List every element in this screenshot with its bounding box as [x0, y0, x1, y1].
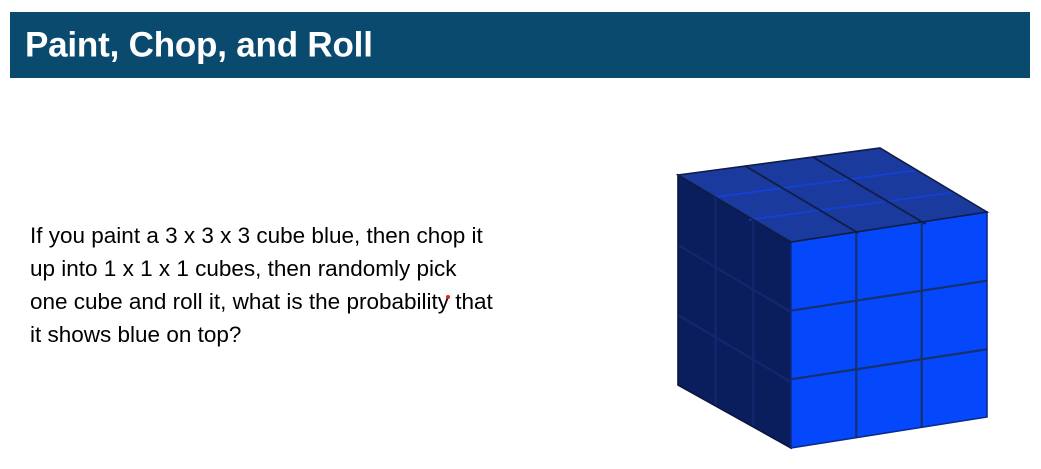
title-banner: Paint, Chop, and Roll	[10, 12, 1030, 78]
question-paragraph: If you paint a 3 x 3 x 3 cube blue, then…	[30, 219, 610, 351]
cube-illustration	[650, 130, 1010, 465]
cube-front-face	[791, 212, 987, 448]
cube-svg	[650, 130, 1010, 465]
page-title: Paint, Chop, and Roll	[25, 28, 373, 63]
slide-canvas: Paint, Chop, and Roll If you paint a 3 x…	[0, 0, 1041, 469]
cursor-dot-artifact	[446, 295, 450, 299]
